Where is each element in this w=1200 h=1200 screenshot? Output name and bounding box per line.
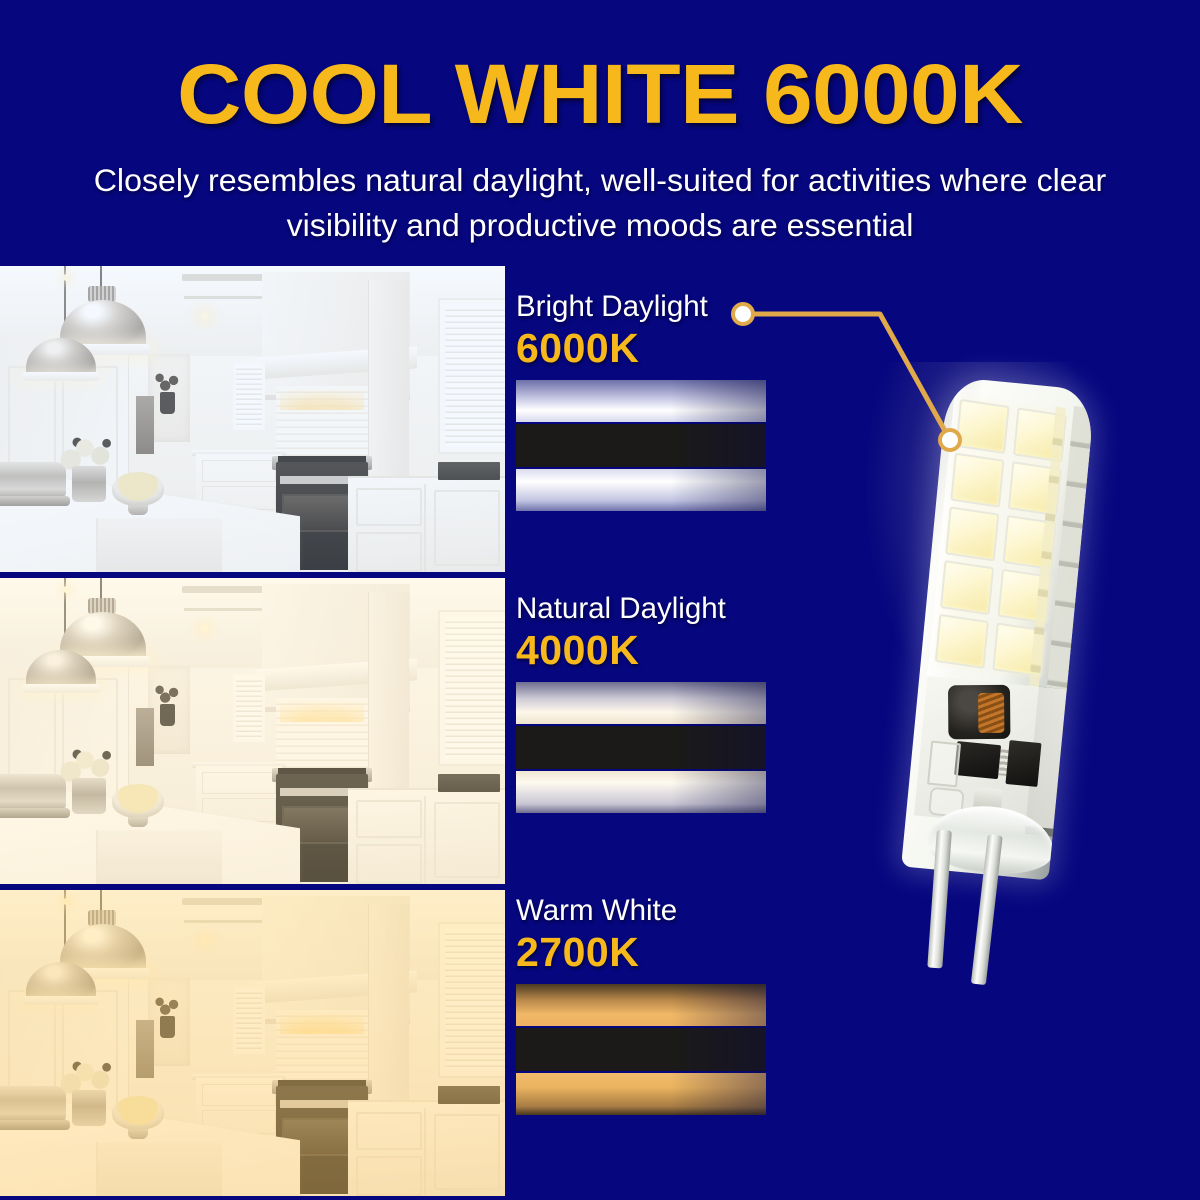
temperature-name-2700k: Warm White	[516, 896, 782, 927]
led-chip	[945, 506, 999, 561]
subtitle-text: Closely resembles natural daylight, well…	[80, 158, 1120, 247]
swatch-band-top	[516, 984, 766, 1026]
color-swatch-2700k	[516, 984, 766, 1129]
temperature-block-6000k: Bright Daylight 6000K	[516, 292, 782, 525]
kitchen-photo-2700k	[0, 890, 505, 1196]
hood-column	[368, 904, 409, 1100]
temperature-kelvin-4000k: 4000K	[516, 627, 782, 674]
callout-dot-bulb-icon	[938, 428, 962, 452]
swatch-band-bottom	[516, 1073, 766, 1115]
driver-ic-2	[1005, 740, 1041, 787]
hood-column	[368, 280, 409, 476]
photo-inner	[0, 890, 505, 1196]
pendant-lamp-glow-2	[22, 372, 100, 381]
shutter-window-right	[440, 612, 505, 764]
temperature-kelvin-2700k: 2700K	[516, 929, 782, 976]
alcove-vase	[160, 704, 175, 726]
led-chip	[935, 614, 989, 669]
swatch-band-top	[516, 380, 766, 422]
island-vase	[72, 466, 106, 502]
alcove-vase	[160, 1016, 175, 1038]
temperature-block-4000k: Natural Daylight 4000K	[516, 594, 782, 827]
island-vase	[72, 778, 106, 814]
shutter-window-right	[440, 300, 505, 452]
silver-pot	[0, 774, 66, 812]
kitchen-scene	[0, 890, 505, 1196]
kitchen-scene	[0, 266, 505, 572]
inductor-component	[948, 685, 1010, 740]
ceiling-downlight	[200, 936, 209, 945]
silver-pot	[0, 462, 66, 500]
color-swatch-4000k	[516, 682, 766, 827]
swatch-band-dark	[516, 726, 766, 769]
callout-dot-label-icon	[731, 302, 755, 326]
island-side-panel	[96, 518, 222, 572]
doorway	[136, 1020, 154, 1078]
photo-inner	[0, 578, 505, 884]
alcove-vase	[160, 392, 175, 414]
right-base-cabinets-2	[424, 796, 505, 884]
temperature-kelvin-6000k: 6000K	[516, 325, 782, 372]
shutter-window-mid	[233, 986, 265, 1054]
swatch-band-bottom	[516, 771, 766, 813]
ceiling-downlight-2	[63, 274, 70, 281]
right-base-cabinets-2	[424, 1108, 505, 1196]
ceiling-downlight	[200, 624, 209, 633]
fruit-bowl	[112, 1096, 164, 1130]
island-vase	[72, 1090, 106, 1126]
swatch-band-dark	[516, 424, 766, 467]
page-title: COOL WHITE 6000K	[0, 52, 1200, 136]
island-side-panel	[96, 1142, 222, 1196]
solder-pad	[927, 741, 961, 788]
ceiling-downlight	[200, 312, 209, 321]
driver-ic	[954, 741, 1001, 779]
g4-led-bulb	[880, 375, 1129, 912]
sink	[438, 1086, 500, 1104]
sink	[438, 462, 500, 480]
infographic-root: COOL WHITE 6000K Closely resembles natur…	[0, 0, 1200, 1200]
island-side-panel	[96, 830, 222, 884]
splashback-glow	[280, 1008, 364, 1034]
kitchen-photo-4000k	[0, 578, 505, 884]
doorway	[136, 708, 154, 766]
led-chip	[956, 399, 1010, 454]
fruit-bowl	[112, 472, 164, 506]
kitchen-scene	[0, 578, 505, 884]
led-chip	[940, 560, 994, 615]
color-swatch-6000k	[516, 380, 766, 525]
splashback-glow	[280, 384, 364, 410]
led-chip	[950, 453, 1004, 508]
hood-column	[368, 592, 409, 788]
splashback-glow	[280, 696, 364, 722]
sink	[438, 774, 500, 792]
shutter-window-right	[440, 924, 505, 1076]
temperature-name-4000k: Natural Daylight	[516, 594, 782, 625]
pendant-lamp-glow-2	[22, 996, 100, 1005]
pendant-lamp-glow-2	[22, 684, 100, 693]
header: COOL WHITE 6000K Closely resembles natur…	[0, 0, 1200, 262]
fruit-bowl	[112, 784, 164, 818]
silver-pot	[0, 1086, 66, 1124]
photo-inner	[0, 266, 505, 572]
doorway	[136, 396, 154, 454]
swatch-band-top	[516, 682, 766, 724]
swatch-band-dark	[516, 1028, 766, 1071]
swatch-band-bottom	[516, 469, 766, 511]
ceiling-downlight-2	[63, 898, 70, 905]
shutter-window-mid	[233, 362, 265, 430]
shutter-window-mid	[233, 674, 265, 742]
temperature-block-2700k: Warm White 2700K	[516, 896, 782, 1129]
bulb-silicone-body	[901, 377, 1095, 881]
right-base-cabinets-2	[424, 484, 505, 572]
led-bulb-image	[880, 382, 1110, 1002]
kitchen-photo-6000k	[0, 266, 505, 572]
ceiling-downlight-2	[63, 586, 70, 593]
